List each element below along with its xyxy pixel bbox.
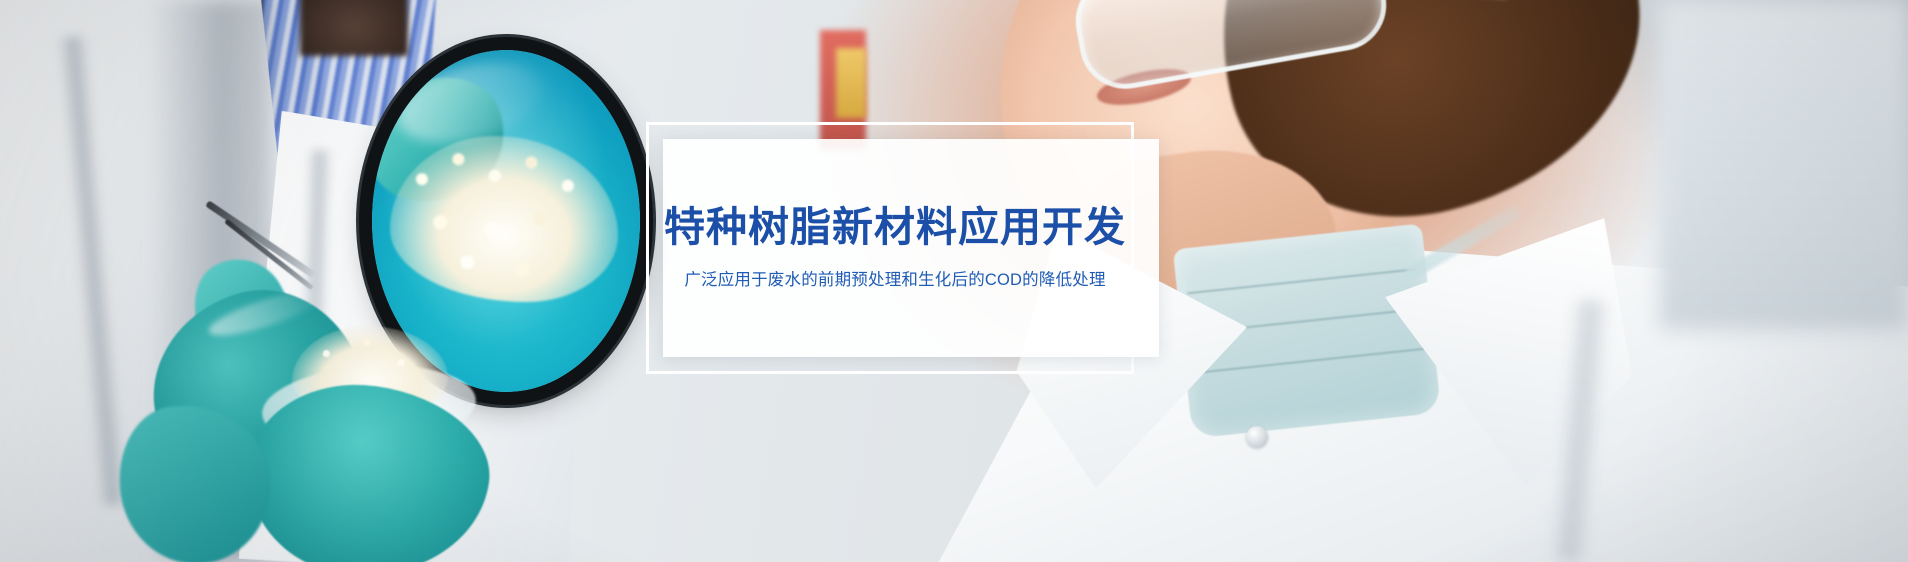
banner-image: 特种树脂新材料应用开发 广泛应用于废水的前期预处理和生化后的COD的降低处理: [0, 0, 1908, 562]
text-panel-content: 特种树脂新材料应用开发 广泛应用于废水的前期预处理和生化后的COD的降低处理: [660, 136, 1130, 360]
banner-headline: 特种树脂新材料应用开发: [664, 205, 1126, 250]
banner-subtitle: 广泛应用于废水的前期预处理和生化后的COD的降低处理: [684, 270, 1105, 291]
